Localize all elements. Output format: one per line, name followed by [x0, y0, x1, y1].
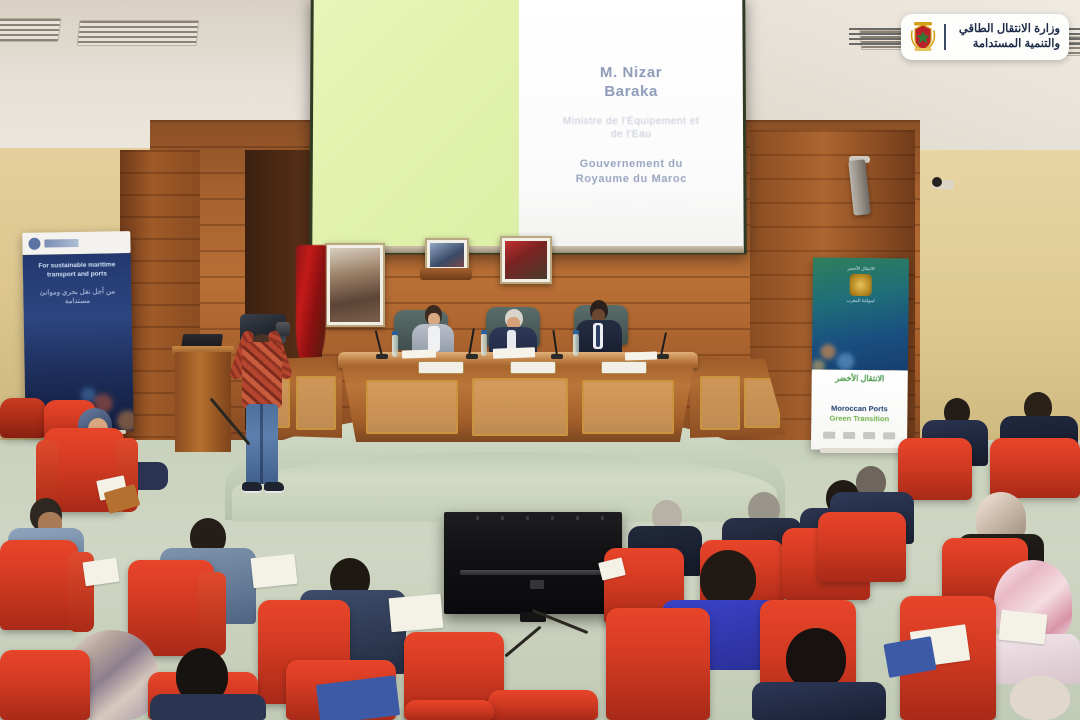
audience-seat [818, 512, 906, 582]
microphone-base [466, 354, 478, 359]
banner-right-english-line2: Green Transition [815, 414, 903, 424]
notepad [999, 610, 1048, 645]
nameplate [418, 361, 464, 374]
banner-moroccan-ports: الانتقال الأخضر لموانئنا المغرب الانتقال… [811, 258, 909, 451]
projection-screen: M. Nizar Baraka Ministre de l'Équipement… [309, 0, 747, 254]
microphone-base [657, 354, 669, 359]
watermark-line2: والتنمية المستدامة [954, 37, 1061, 52]
cameraman-shoe [242, 482, 262, 493]
ceiling-vent [0, 18, 62, 42]
audience-seat [606, 608, 710, 720]
wall-ledge [420, 268, 472, 280]
slide-speaker-name-line1: M. Nizar [600, 64, 662, 83]
banner-logo-icon [28, 238, 40, 250]
watermark-line1: وزارة الانتقال الطاقي [954, 22, 1061, 37]
slide-speaker-name-line2: Baraka [600, 83, 662, 102]
documents [625, 351, 657, 360]
bottle-cap [481, 330, 487, 334]
audience-seat [0, 650, 90, 720]
cctv-camera-lens [932, 177, 942, 187]
nameplate [601, 361, 647, 374]
banner-wordmark-icon [44, 239, 78, 248]
water-bottle [481, 334, 487, 356]
water-bottle [392, 335, 398, 357]
slide-content: M. Nizar Baraka Ministre de l'Équipement… [519, 0, 743, 251]
royal-portrait-large [325, 243, 385, 327]
documents [402, 349, 436, 358]
cameraman-shoe [264, 482, 284, 493]
slide-role-line1: Ministre de l'Équipement et [563, 115, 700, 128]
slide-government-line1: Gouvernement du [576, 157, 687, 171]
audience-seat [404, 700, 494, 720]
banner-left-arabic: من أجل نقل بحري وموانئ مستدامة [31, 287, 123, 307]
floor-monitor-tv [444, 512, 622, 614]
documents [493, 347, 535, 358]
tv-back-bar [460, 570, 606, 575]
tv-vent-strip [454, 516, 612, 520]
banner-left-header [22, 231, 130, 255]
notepad [389, 594, 444, 632]
audience-seat [488, 690, 598, 720]
bottle-cap [392, 331, 398, 335]
slide-government-line2: Royaume du Maroc [576, 172, 687, 186]
cameraman-shirt [242, 342, 282, 408]
audience-seat [990, 438, 1080, 498]
wall-right-paint [900, 150, 1080, 450]
watermark-text: وزارة الانتقال الطاقي والتنمية المستدامة [954, 22, 1061, 52]
microphone-base [551, 354, 563, 359]
cameraman-jeans [246, 404, 278, 484]
banner-right-arabic: الانتقال الأخضر [816, 374, 904, 385]
slide-role-line2: de l'Eau [563, 128, 700, 141]
notepad [82, 558, 119, 586]
banner-right-top: الانتقال الأخضر لموانئنا المغرب [812, 258, 909, 371]
banner-left-english: For sustainable maritime transport and p… [31, 261, 123, 280]
morocco-emblem-icon [850, 274, 872, 296]
banner-right-sponsor-logos [819, 430, 899, 441]
notepad [251, 554, 298, 588]
seat-armrest [198, 572, 226, 656]
audience-seat [0, 398, 46, 438]
audience-seat [0, 540, 78, 630]
cameraman [232, 300, 290, 510]
banner-right-emblem-caption: الانتقال الأخضر [813, 266, 909, 273]
dais-front-face [342, 366, 694, 442]
banner-right-english-line1: Moroccan Ports [815, 404, 903, 414]
framed-photo-red [500, 236, 552, 284]
morocco-coat-of-arms-icon [910, 22, 936, 52]
banner-right-stand [820, 448, 902, 453]
water-bottle [573, 334, 579, 356]
bottle-cap [573, 330, 579, 334]
lectern [175, 352, 231, 452]
microphone-base [376, 354, 388, 359]
watermark-stripe-left [849, 28, 901, 46]
nameplate [510, 361, 556, 374]
slide-left-panel [312, 0, 519, 251]
banner-right-bottom: الانتقال الأخضر Moroccan Ports Green Tra… [811, 369, 908, 450]
ceiling-vent [77, 20, 200, 46]
banner-right-emblem-subcaption: لموانئنا المغرب [813, 298, 909, 305]
tv-logo-icon [530, 580, 544, 589]
screenshot-root: M. Nizar Baraka Ministre de l'Équipement… [0, 0, 1080, 720]
ministry-watermark: وزارة الانتقال الطاقي والتنمية المستدامة [901, 14, 1069, 60]
moroccan-flag [296, 245, 326, 365]
framed-photo-small [425, 238, 469, 272]
watermark-divider [944, 24, 946, 50]
audience-seat [898, 438, 972, 500]
